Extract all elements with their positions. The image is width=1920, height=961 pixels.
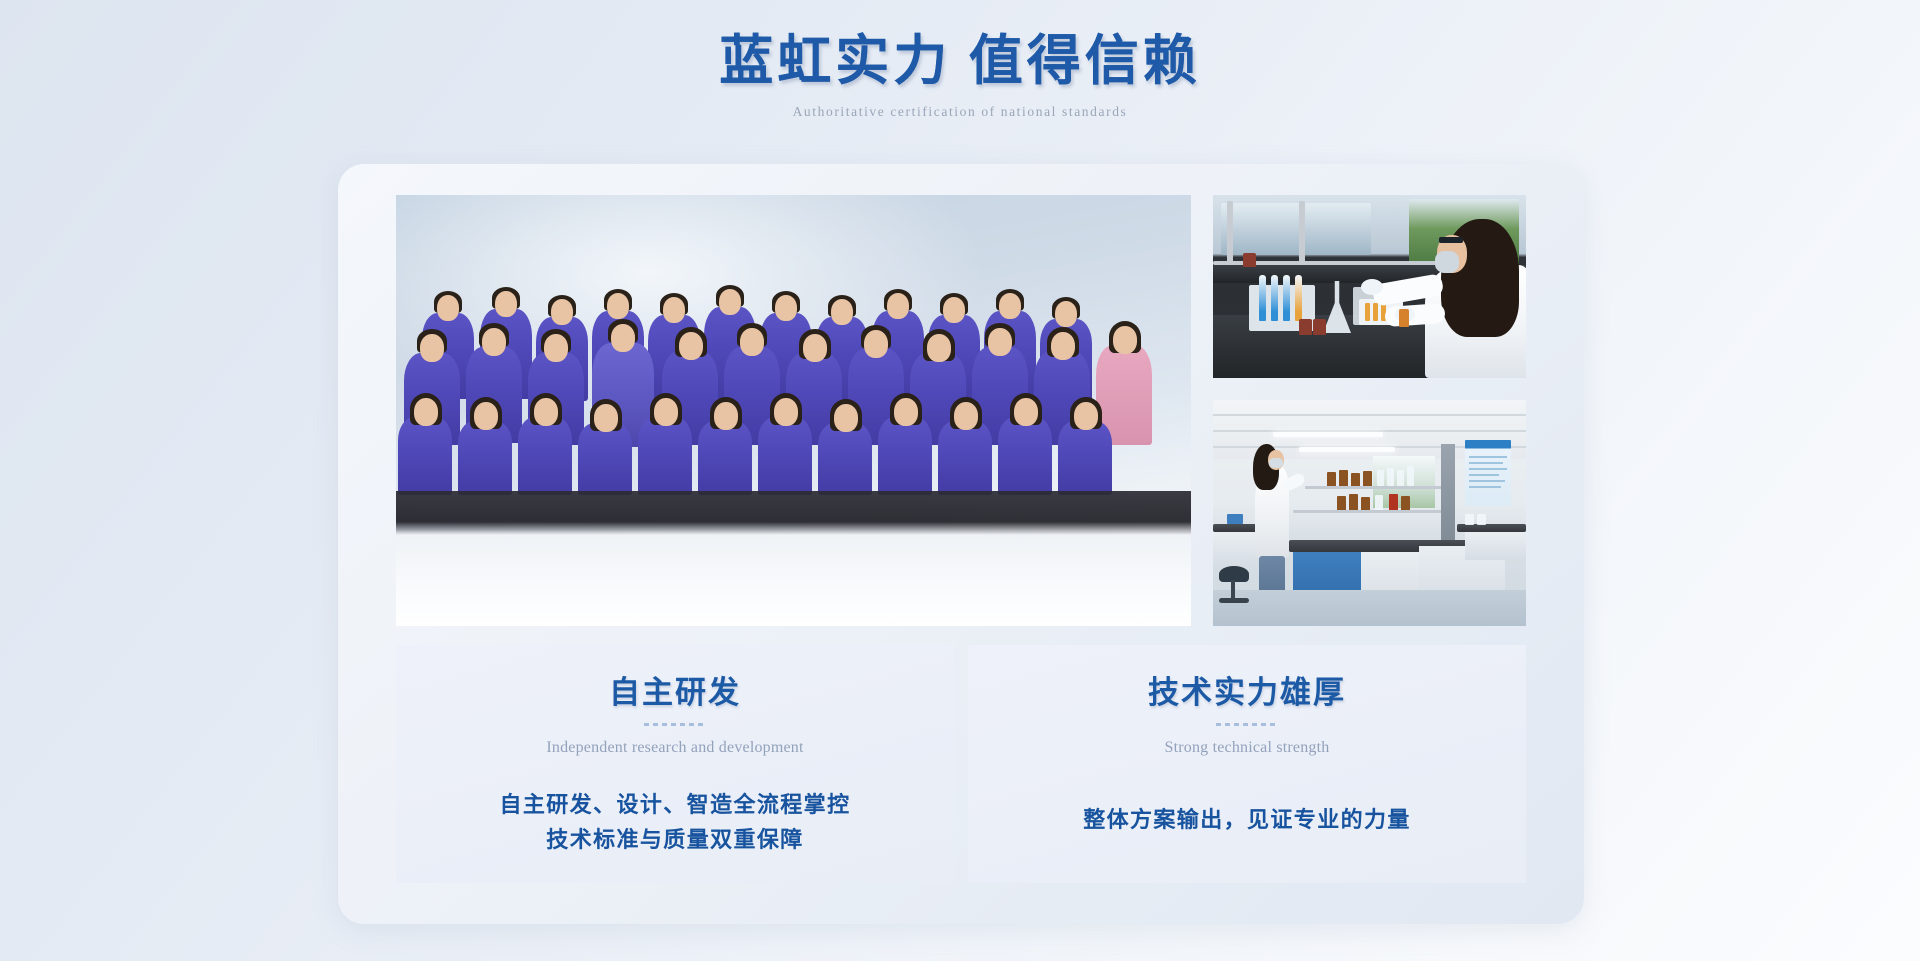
feature-card-tech-desc-line1: 整体方案输出，见证专业的力量 <box>968 802 1526 837</box>
feature-card-rd-description: 自主研发、设计、智造全流程掌控 技术标准与质量双重保障 <box>396 787 954 857</box>
feature-card-rd-title: 自主研发 <box>396 667 954 712</box>
dashed-divider-icon <box>644 723 706 726</box>
feature-card-rd-desc-line1: 自主研发、设计、智造全流程掌控 <box>396 787 954 822</box>
media-grid <box>396 195 1526 626</box>
page-header: 蓝虹实力 值得信赖 Authoritative certification of… <box>0 0 1920 120</box>
feature-card-tech-subtitle: Strong technical strength <box>968 739 1526 757</box>
feature-card-rd-subtitle: Independent research and development <box>396 739 954 757</box>
feature-card-rd-desc-line2: 技术标准与质量双重保障 <box>396 822 954 857</box>
feature-cards: 自主研发 Independent research and developmen… <box>396 645 1526 883</box>
page-title: 蓝虹实力 值得信赖 <box>719 30 1201 94</box>
feature-card-tech[interactable]: 技术实力雄厚 Strong technical strength 整体方案输出，… <box>968 645 1526 883</box>
team-group-photo <box>396 195 1191 626</box>
dashed-divider-icon <box>1216 723 1278 726</box>
feature-card-tech-title: 技术实力雄厚 <box>968 667 1526 712</box>
laboratory-overview-photo <box>1213 400 1526 626</box>
group-photo-people <box>396 195 1191 626</box>
lab-technician-photo <box>1213 195 1526 378</box>
page-subtitle: Authoritative certification of national … <box>0 104 1920 120</box>
content-panel: 自主研发 Independent research and developmen… <box>338 164 1584 924</box>
feature-card-tech-description: 整体方案输出，见证专业的力量 <box>968 802 1526 837</box>
lab-photo-column <box>1213 195 1526 626</box>
feature-card-rd[interactable]: 自主研发 Independent research and developmen… <box>396 645 954 883</box>
